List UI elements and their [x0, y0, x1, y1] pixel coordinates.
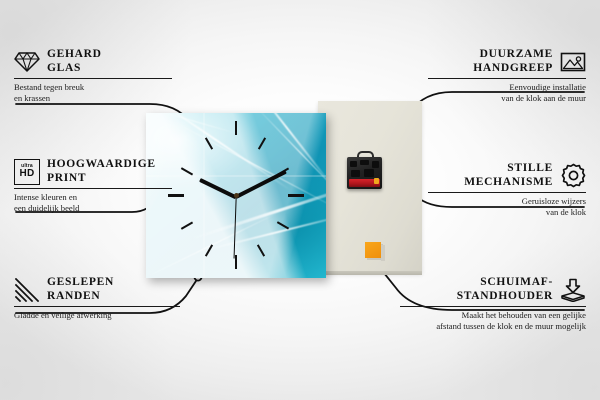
beveled-edge-icon [14, 277, 40, 303]
feature-divider [14, 78, 172, 79]
foam-standoff-pad-side [381, 245, 385, 261]
feature-divider [14, 188, 172, 189]
clock-face [146, 113, 326, 278]
gear-icon [560, 163, 586, 189]
feature-title-line2: PRINT [47, 172, 156, 186]
press-down-pad-icon [560, 277, 586, 303]
feature-title-line2: HANDGREEP [473, 62, 553, 76]
feature-header: GEHARD GLAS [14, 48, 172, 75]
battery-terminal [374, 178, 379, 184]
feature-title-line2: MECHANISME [464, 176, 553, 190]
feature-schuimafstandhouder: SCHUIMAF- STANDHOUDER Maakt het behouden… [400, 276, 586, 331]
feature-stille-mechanisme: STILLE MECHANISME Geruisloze wijzers van… [428, 162, 586, 217]
feature-header: SCHUIMAF- STANDHOUDER [400, 276, 586, 303]
ultra-hd-icon-main-text: HD [19, 169, 34, 179]
feature-title: HOOGWAARDIGE PRINT [47, 158, 156, 185]
feature-desc-line2: van de klok aan de muur [428, 93, 586, 104]
feature-desc-line1: Geruisloze wijzers [428, 196, 586, 207]
feature-header: STILLE MECHANISME [428, 162, 586, 189]
feature-desc-line1: Bestand tegen breuk [14, 82, 172, 93]
clock-mechanism [347, 157, 382, 189]
ultra-hd-icon: ultra HD [14, 159, 40, 185]
clock-tick-6 [235, 255, 237, 269]
feature-title-line2: STANDHOUDER [457, 290, 553, 304]
feature-title-line1: HOOGWAARDIGE [47, 158, 156, 172]
feature-duurzame-handgreep: DUURZAME HANDGREEP Eenvoudige installati… [428, 48, 586, 103]
feature-desc-line1: Eenvoudige installatie [428, 82, 586, 93]
feature-divider [400, 306, 586, 307]
feature-desc-line1: Gladde en veilige afwerking [14, 310, 180, 321]
feature-title: STILLE MECHANISME [464, 162, 553, 189]
feature-title-line2: GLAS [47, 62, 102, 76]
clock-hand-hub [234, 193, 239, 198]
feature-header: GESLEPEN RANDEN [14, 276, 180, 303]
feature-header: ultra HD HOOGWAARDIGE PRINT [14, 158, 172, 185]
glass-seam-horizontal [146, 175, 326, 177]
clock-tick-12 [235, 121, 237, 135]
feature-title-line1: STILLE [464, 162, 553, 176]
feature-geslepen-randen: GESLEPEN RANDEN Gladde en veilige afwerk… [14, 276, 180, 321]
feature-desc-line2: afstand tussen de klok en de muur mogeli… [400, 321, 586, 332]
feature-description: Geruisloze wijzers van de klok [428, 196, 586, 217]
feature-divider [428, 78, 586, 79]
feature-title-line1: GESLEPEN [47, 276, 114, 290]
picture-frame-icon [560, 49, 586, 75]
product-image [146, 101, 422, 281]
infographic-canvas: GEHARD GLAS Bestand tegen breuk en krass… [0, 0, 600, 400]
feature-description: Intense kleuren en een duidelijk beeld [14, 192, 172, 213]
clock-back-panel-edge [318, 271, 422, 275]
feature-title: GESLEPEN RANDEN [47, 276, 114, 303]
feature-desc-line2: van de klok [428, 207, 586, 218]
feature-hoogwaardige-print: ultra HD HOOGWAARDIGE PRINT Intense kleu… [14, 158, 172, 213]
foam-standoff-pad [365, 242, 381, 258]
feature-description: Bestand tegen breuk en krassen [14, 82, 172, 103]
feature-desc-line1: Maakt het behouden van een gelijke [400, 310, 586, 321]
feature-title-line1: SCHUIMAF- [457, 276, 553, 290]
feature-title: GEHARD GLAS [47, 48, 102, 75]
feature-title: SCHUIMAF- STANDHOUDER [457, 276, 553, 303]
feature-header: DUURZAME HANDGREEP [428, 48, 586, 75]
feature-description: Maakt het behouden van een gelijke afsta… [400, 310, 586, 331]
feature-desc-line2: en krassen [14, 93, 172, 104]
feature-desc-line2: een duidelijk beeld [14, 203, 172, 214]
feature-divider [428, 192, 586, 193]
feature-title: DUURZAME HANDGREEP [473, 48, 553, 75]
feature-description: Eenvoudige installatie van de klok aan d… [428, 82, 586, 103]
battery [349, 179, 380, 187]
feature-divider [14, 306, 180, 307]
feature-title-line2: RANDEN [47, 290, 114, 304]
feature-description: Gladde en veilige afwerking [14, 310, 180, 321]
clock-tick-3 [288, 194, 304, 197]
feature-title-line1: GEHARD [47, 48, 102, 62]
feature-gehard-glas: GEHARD GLAS Bestand tegen breuk en krass… [14, 48, 172, 103]
diamond-icon [14, 49, 40, 75]
feature-title-line1: DUURZAME [473, 48, 553, 62]
feature-desc-line1: Intense kleuren en [14, 192, 172, 203]
